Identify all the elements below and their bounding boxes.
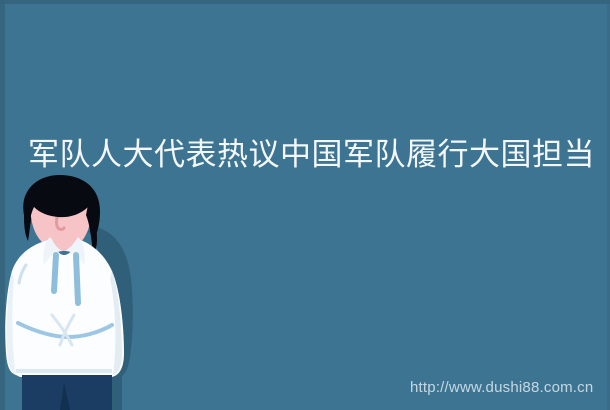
news-banner: 军队人大代表热议中国军队履行大国担当 http://www.dushi88.co… (0, 0, 610, 410)
page-title: 军队人大代表热议中国军队履行大国担当 (28, 136, 598, 174)
pants (22, 375, 112, 410)
person-illustration (0, 175, 170, 410)
watermark-url: http://www.dushi88.com.cn (410, 379, 593, 397)
banner-top-edge (0, 0, 610, 4)
